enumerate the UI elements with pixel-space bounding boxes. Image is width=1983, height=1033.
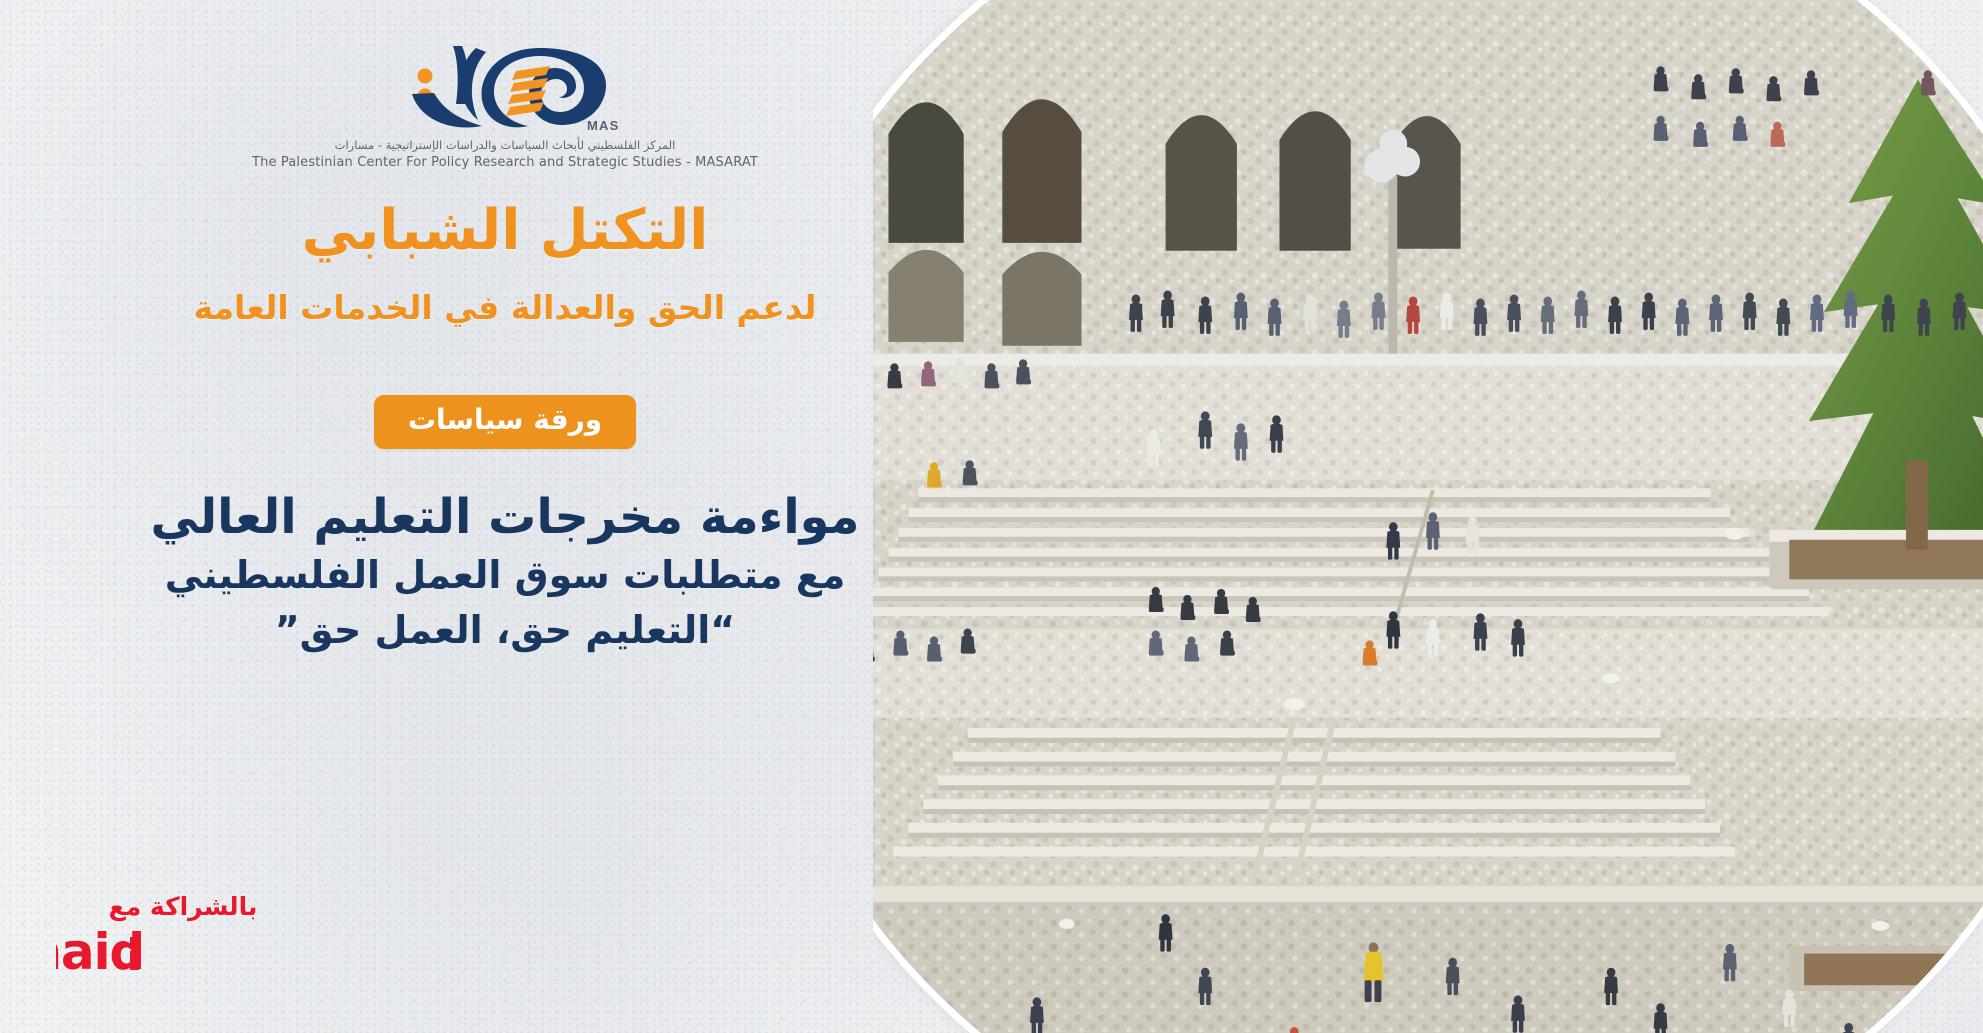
title-line-2: مع متطلبات سوق العمل الفلسطيني bbox=[0, 551, 1010, 600]
masarat-swoosh-logo-icon: MASARAT bbox=[390, 38, 620, 134]
title-line-3-slogan: “التعليم حق، العمل حق” bbox=[0, 606, 1010, 655]
actionaid-logo-icon: act onaid bbox=[56, 925, 318, 981]
document-type-badge-row: ورقة سياسات bbox=[0, 395, 1010, 449]
title-line-1: مواءمة مخرجات التعليم العالي bbox=[0, 488, 1010, 547]
poster-canvas: MASARAT المركز الفلسطيني لأبحاث السياسات… bbox=[0, 0, 1983, 1033]
cover-photo-illustration bbox=[873, 0, 1983, 1033]
left-content-column: MASARAT المركز الفلسطيني لأبحاث السياسات… bbox=[0, 0, 1010, 1033]
partnership-block: بالشراكة مع act onaid act!onaid bbox=[48, 893, 318, 982]
campaign-headline: التكتل الشبابي bbox=[0, 200, 1010, 263]
logo-tagline-english: The Palestinian Center For Policy Resear… bbox=[252, 155, 758, 170]
campaign-subheadline: لدعم الحق والعدالة في الخدمات العامة bbox=[0, 288, 1010, 328]
svg-text:onaid: onaid bbox=[56, 925, 144, 981]
masarat-wordmark: MASARAT bbox=[587, 118, 620, 133]
document-type-badge: ورقة سياسات bbox=[374, 395, 636, 449]
cover-photo-area bbox=[873, 0, 1983, 1033]
partnership-label: بالشراكة مع bbox=[48, 893, 318, 921]
cover-photo-circle-frame bbox=[873, 0, 1983, 1033]
masarat-logo-block: MASARAT المركز الفلسطيني لأبحاث السياسات… bbox=[0, 38, 1010, 170]
actionaid-logo-text: act!onaid bbox=[182, 981, 183, 982]
document-title: مواءمة مخرجات التعليم العالي مع متطلبات … bbox=[0, 488, 1010, 655]
logo-tagline-arabic: المركز الفلسطيني لأبحاث السياسات والدراس… bbox=[335, 138, 676, 152]
